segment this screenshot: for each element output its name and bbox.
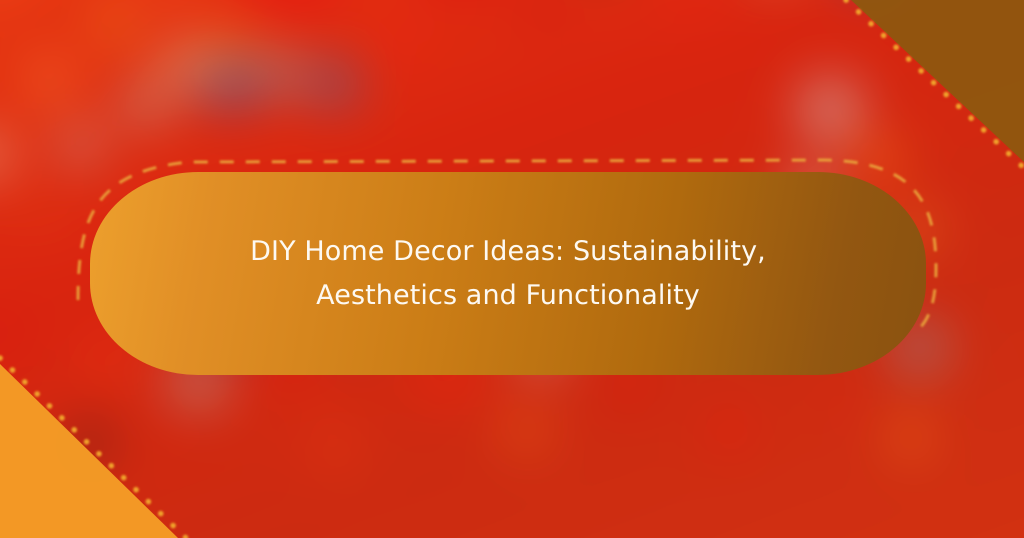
- page-title-line-1: DIY Home Decor Ideas: Sustainability,: [250, 230, 766, 274]
- title-card: DIY Home Decor Ideas: Sustainability, Ae…: [90, 172, 926, 375]
- page-title: DIY Home Decor Ideas: Sustainability, Ae…: [250, 230, 766, 318]
- page-title-line-2: Aesthetics and Functionality: [250, 274, 766, 318]
- blog-title-banner: DIY Home Decor Ideas: Sustainability, Ae…: [0, 0, 1024, 538]
